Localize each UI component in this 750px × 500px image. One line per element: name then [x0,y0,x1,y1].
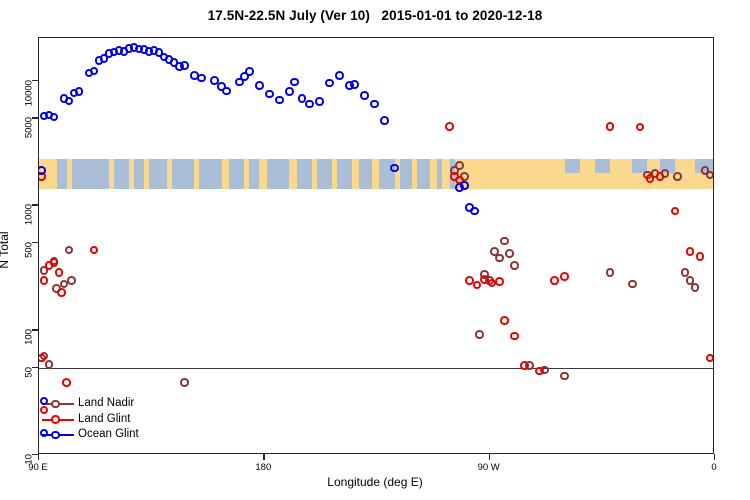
legend-label: Land Nadir [74,398,134,410]
data-point [290,78,299,87]
data-point [275,96,284,105]
data-point [90,67,99,76]
y-tick-label: 10000 [24,80,35,106]
data-point [510,261,519,270]
land-segment [259,159,267,189]
data-point [315,97,324,106]
x-tick [263,454,264,460]
ocean-notch [249,159,259,173]
data-point [606,268,615,277]
ocean-notch [72,159,110,173]
data-point [455,161,464,170]
ocean-notch [57,159,67,173]
ocean-notch [134,159,144,173]
ocean-notch [437,159,442,173]
land-segment [542,159,555,189]
land-segment [289,159,297,189]
data-point [370,100,379,109]
ocean-notch [267,159,290,173]
x-tick [489,454,490,460]
legend-item-land-glint: Land Glint [42,412,139,428]
data-point [470,207,479,216]
data-point [673,172,682,181]
y-tick-label: 100 [24,329,35,345]
data-point [656,172,665,181]
data-point [40,276,49,285]
legend-item-land-nadir: Land Nadir [42,396,139,412]
data-point [55,268,64,277]
ocean-notch [114,159,129,173]
legend-label: Land Glint [74,414,130,426]
data-point [696,252,705,261]
data-point [180,61,189,70]
legend-dot [51,400,60,409]
x-tick-label: 90 E [28,462,48,473]
data-point [495,254,504,263]
land-segment [372,159,380,189]
plot-area [38,37,714,454]
data-point [62,378,71,387]
legend-label: Ocean Glint [74,429,139,441]
land-segment [525,159,543,189]
ocean-notch [149,159,167,173]
ocean-notch [595,159,610,173]
y-tick-label: 5000 [24,117,35,138]
data-layer [39,38,713,453]
data-point [38,166,46,175]
data-point [505,249,514,258]
data-point [222,87,231,96]
land-segment [352,159,360,189]
data-point [45,360,54,369]
world-map-band [39,159,713,189]
ocean-notch [317,159,332,173]
page-title: 17.5N-22.5N July (Ver 10) 2015-01-01 to … [0,8,750,23]
data-point [255,81,264,90]
data-point [67,276,76,285]
data-point [520,361,529,370]
data-point [350,80,359,89]
data-point [265,90,274,99]
data-point [636,123,645,132]
y-tick-label: 50 [24,367,35,378]
data-point [475,330,484,339]
data-point [535,367,544,376]
data-point [686,247,695,256]
legend-item-ocean-glint: Ocean Glint [42,427,139,443]
data-point [305,100,314,109]
x-axis-title: Longitude (deg E) [0,475,750,489]
data-point [691,283,700,292]
x-tick [38,454,39,460]
data-point [90,246,99,255]
land-segment [505,159,525,189]
land-segment [485,159,505,189]
data-point [325,79,334,88]
data-point [197,74,206,83]
land-segment [607,159,627,189]
data-point [495,277,504,286]
ocean-notch [229,159,244,173]
ocean-notch [337,159,352,173]
data-point [285,87,294,96]
data-point [671,207,680,216]
data-point [500,237,509,246]
legend-dot [51,431,60,440]
data-point [628,280,637,289]
y-tick-label: 500 [24,242,35,258]
legend: Land NadirLand GlintOcean Glint [42,396,139,443]
land-segment [222,159,230,189]
ocean-notch [417,159,430,173]
data-point [646,174,655,183]
data-point [57,288,66,297]
y-tick-label: 1000 [24,204,35,225]
ocean-notch [297,159,312,173]
data-point [560,372,569,381]
data-point [50,113,59,122]
land-segment [442,159,450,189]
land-segment [470,159,485,189]
data-point [38,354,46,363]
data-point [335,71,344,80]
land-segment [430,159,438,189]
data-point [560,272,569,281]
ocean-notch [400,159,413,173]
data-point [360,91,369,100]
y-axis-title: N Total [0,231,11,268]
legend-marker [42,412,74,428]
data-point [65,246,74,255]
data-point [460,181,469,190]
x-tick-label: 180 [255,462,271,473]
chart-page: 17.5N-22.5N July (Ver 10) 2015-01-01 to … [0,0,750,500]
ocean-notch [199,159,222,173]
data-point [500,316,509,325]
data-point [510,332,519,341]
data-point [390,164,399,173]
ocean-notch [172,159,195,173]
legend-dot [51,415,60,424]
ocean-notch [359,159,372,173]
data-point [380,116,389,125]
data-point [65,97,74,106]
x-tick-label: 0 [711,462,716,473]
x-tick-label: 90 W [478,462,500,473]
reference-line [39,368,713,369]
x-tick [714,454,715,460]
data-point [75,87,84,96]
data-point [606,122,615,131]
data-point [180,378,189,387]
data-point [50,258,59,267]
ocean-notch [565,159,580,173]
data-point [245,67,254,76]
data-point [706,354,714,363]
data-point [550,276,559,285]
data-point [445,122,454,131]
